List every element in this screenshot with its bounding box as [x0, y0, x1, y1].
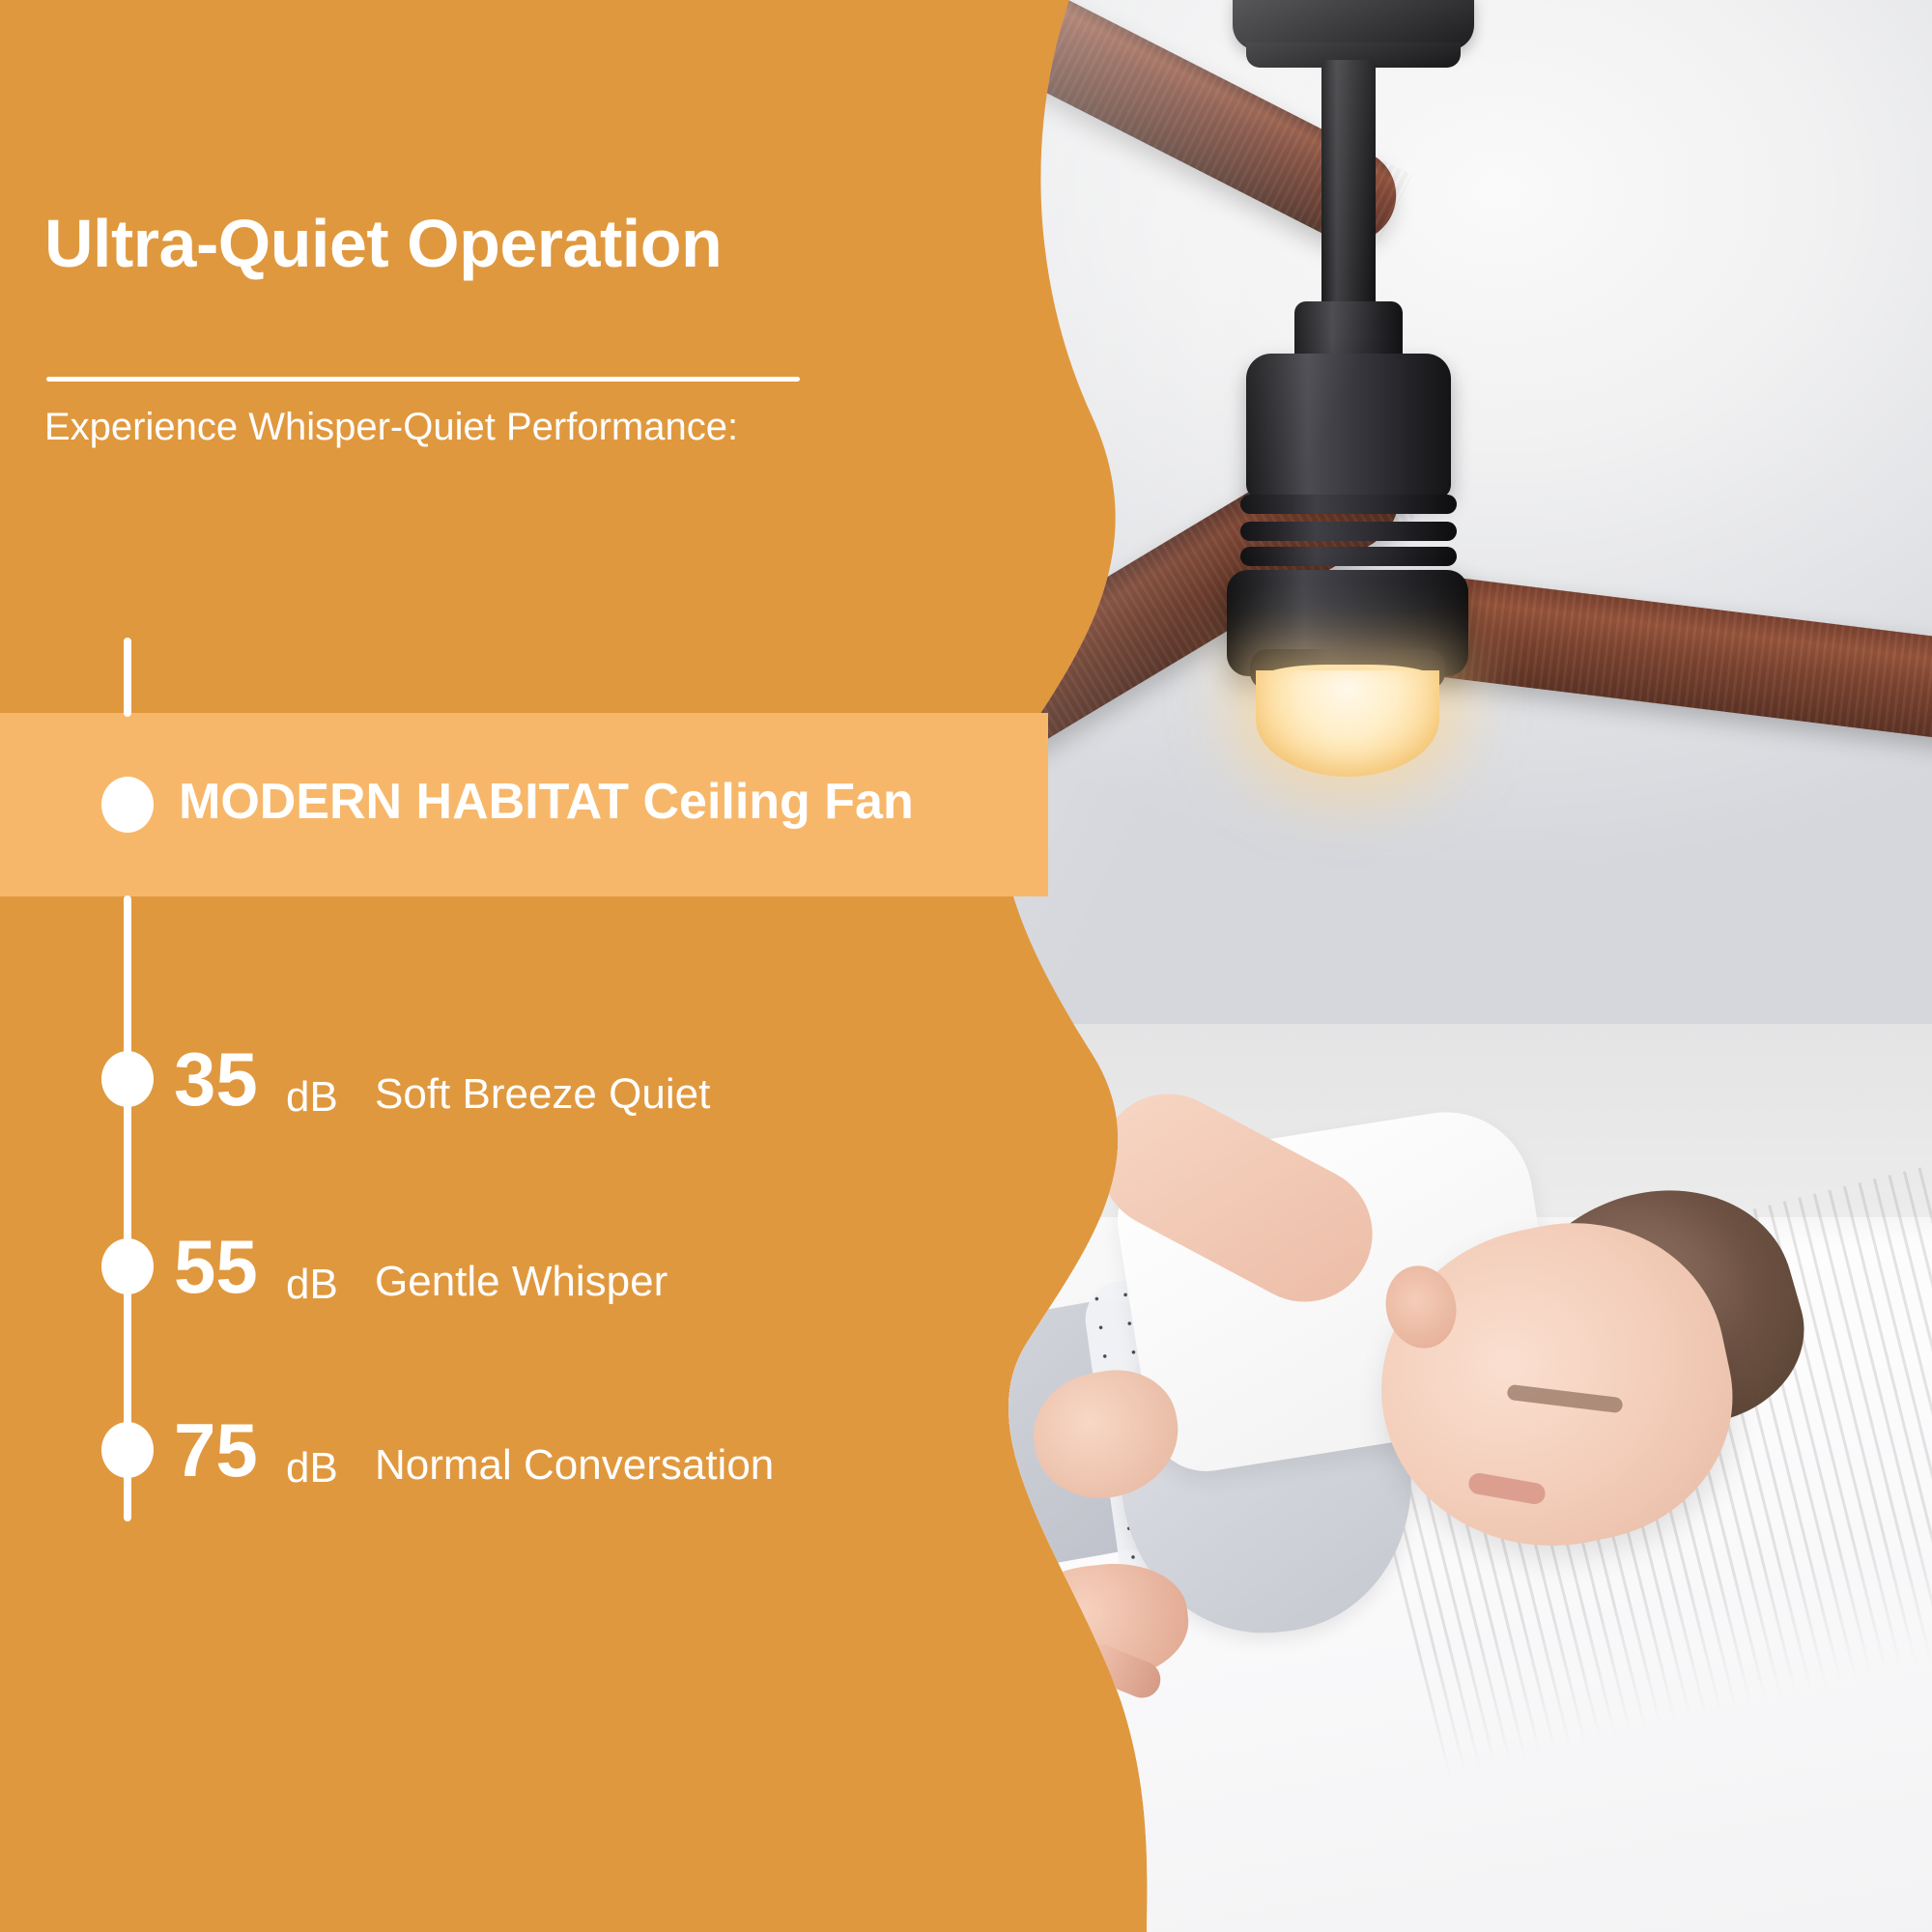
led-light-icon: [1256, 670, 1439, 777]
noise-label: Soft Breeze Quiet: [375, 1070, 710, 1119]
page-title: Ultra-Quiet Operation: [44, 205, 722, 282]
product-name: MODERN HABITAT Ceiling Fan: [179, 773, 914, 831]
noise-label: Normal Conversation: [375, 1441, 774, 1490]
noise-unit: dB: [286, 1447, 338, 1490]
list-item-product[interactable]: MODERN HABITAT Ceiling Fan: [0, 773, 1063, 879]
noise-value: 35: [174, 1041, 258, 1117]
timeline-dot-icon: [101, 777, 154, 833]
list-item-noise-0[interactable]: 35 dB Soft Breeze Quiet: [0, 1041, 1063, 1148]
motor-ring-3: [1240, 547, 1457, 566]
ceiling-canopy: [1233, 0, 1474, 50]
motor-housing: [1246, 354, 1451, 498]
canopy-lip: [1246, 43, 1461, 68]
motor-top: [1294, 301, 1403, 361]
sleeping-baby-photo: [927, 1024, 1932, 1932]
timeline-dot-icon: [101, 1238, 154, 1294]
timeline-dot-icon: [101, 1422, 154, 1478]
motor-ring-1: [1240, 495, 1457, 514]
infographic-canvas: Ultra-Quiet Operation Experience Whisper…: [0, 0, 1932, 1932]
timeline-dot-icon: [101, 1051, 154, 1107]
noise-unit: dB: [286, 1264, 338, 1306]
light-diffuser-top: [1256, 665, 1439, 697]
noise-label: Gentle Whisper: [375, 1258, 668, 1306]
noise-value: 55: [174, 1229, 258, 1304]
timeline-line-top: [124, 638, 131, 717]
blade-hub: [1227, 570, 1468, 676]
list-item-noise-2[interactable]: 75 dB Normal Conversation: [0, 1412, 1063, 1519]
title-divider: [46, 377, 800, 382]
list-item-noise-1[interactable]: 55 dB Gentle Whisper: [0, 1229, 1063, 1335]
noise-unit: dB: [286, 1076, 338, 1119]
noise-value: 75: [174, 1412, 258, 1488]
light-bezel: [1250, 649, 1445, 690]
downrod: [1321, 60, 1376, 311]
motor-ring-2: [1240, 522, 1457, 541]
page-subtitle: Experience Whisper-Quiet Performance:: [44, 406, 738, 449]
info-panel: Ultra-Quiet Operation Experience Whisper…: [0, 0, 1063, 1932]
fan-blade-right-icon: [1385, 570, 1932, 753]
